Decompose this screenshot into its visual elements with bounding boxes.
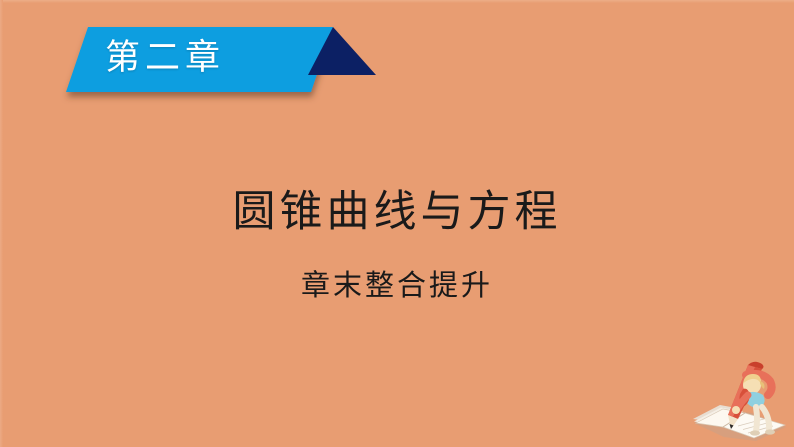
page-subtitle: 章末整合提升 — [0, 266, 794, 306]
corner-illustration — [690, 357, 790, 445]
title-block: 圆锥曲线与方程 章末整合提升 — [0, 182, 794, 306]
page-title: 圆锥曲线与方程 — [0, 182, 794, 244]
chapter-ribbon-label: 第二章 — [0, 28, 330, 88]
slide-canvas: 第二章 圆锥曲线与方程 章末整合提升 — [0, 0, 794, 447]
chapter-ribbon: 第二章 — [0, 0, 420, 120]
student-writing-on-book-icon — [690, 357, 790, 445]
